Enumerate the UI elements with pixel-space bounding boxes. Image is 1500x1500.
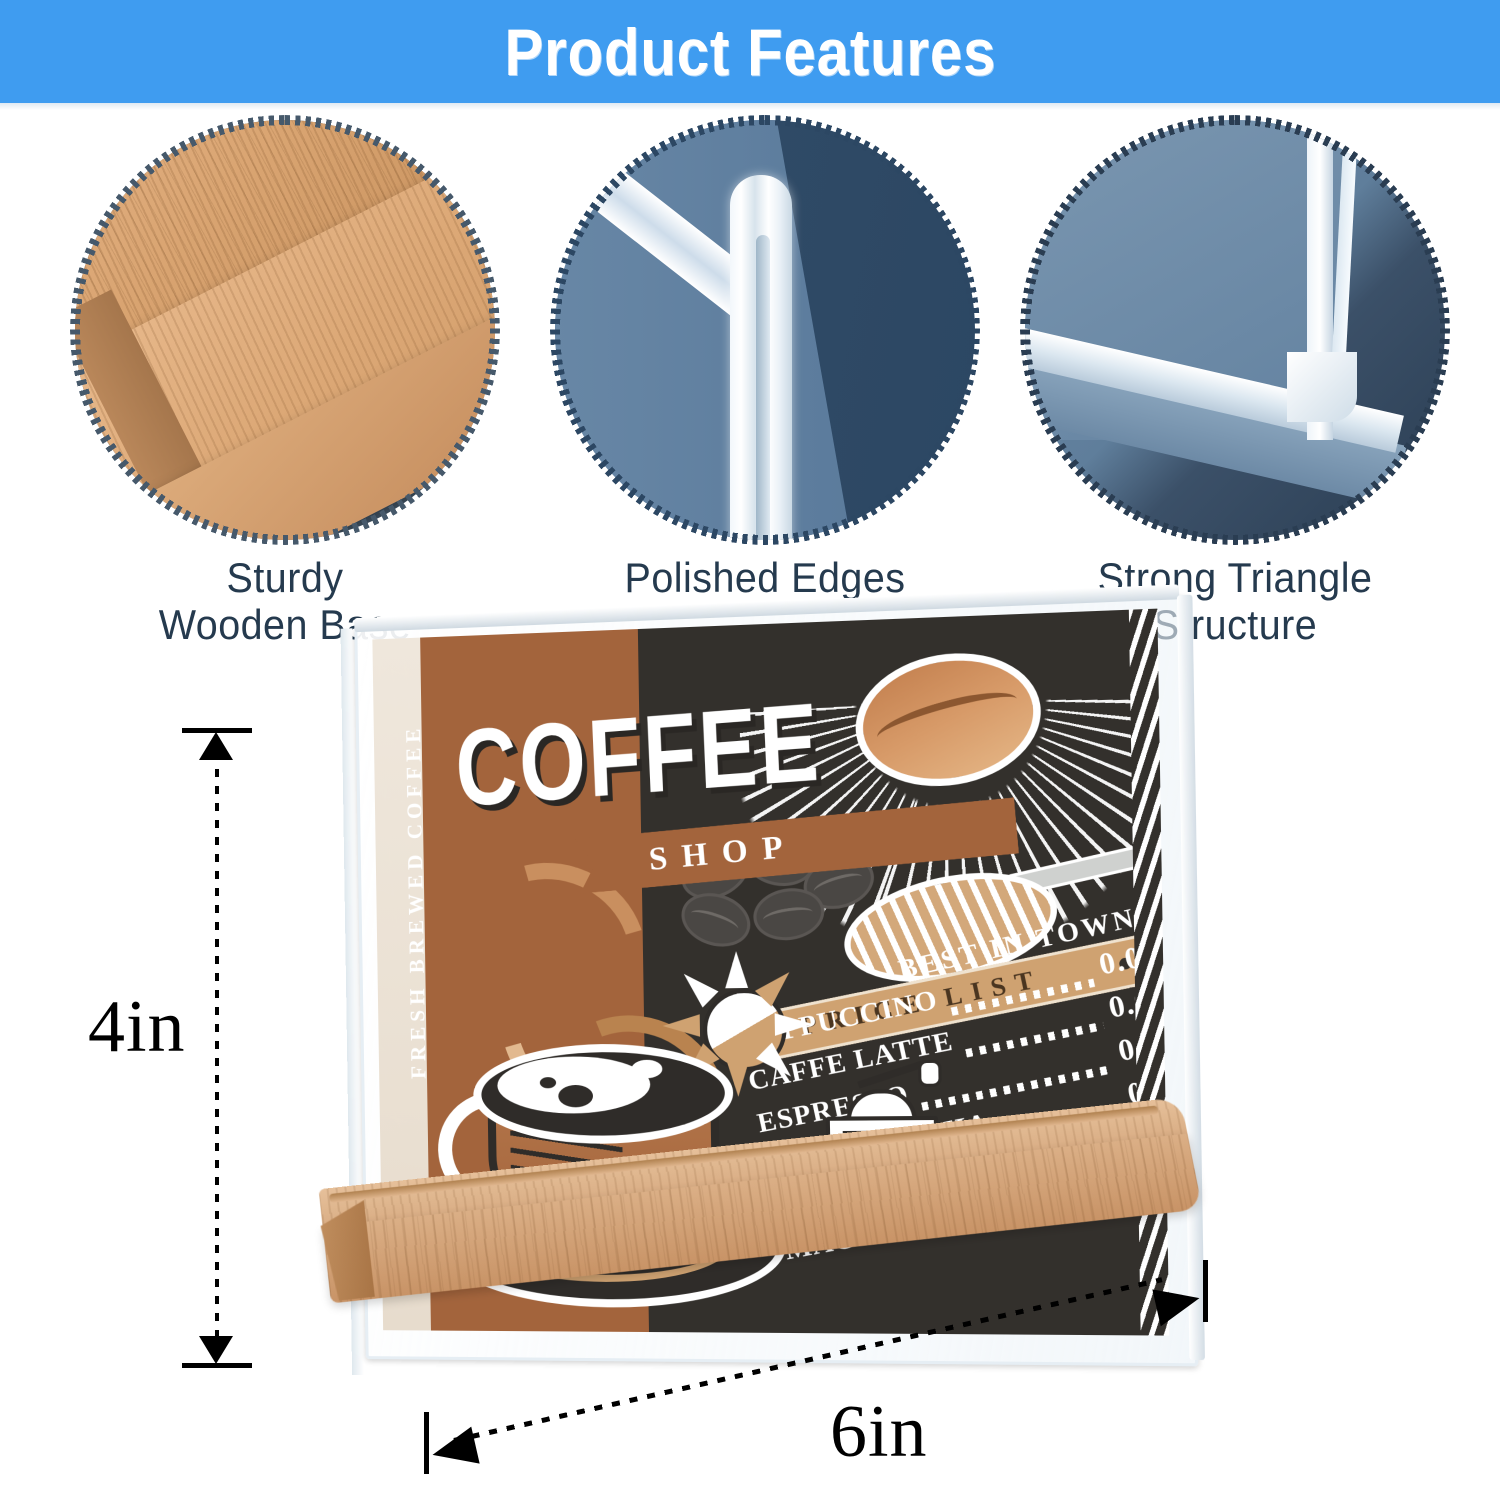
feature-item-sturdy-wooden-base: Sturdy Wooden Base <box>65 120 505 648</box>
feature-list: Sturdy Wooden Base Polished Edges <box>0 120 1500 650</box>
scalloped-ring-icon <box>70 115 500 545</box>
dimension-height-label: 4in <box>88 985 186 1070</box>
dimension-tick-right <box>1203 1260 1208 1322</box>
header-banner: Product Features <box>0 0 1500 103</box>
dimension-width <box>420 1288 1210 1478</box>
poster-brand-subtitle: SHOP <box>647 826 798 878</box>
arrow-right-icon <box>1152 1280 1203 1327</box>
dimension-height <box>215 728 217 1368</box>
sun-ray-icon <box>725 951 748 988</box>
feature-image-polished-edges <box>555 120 975 540</box>
arrow-left-icon <box>428 1427 479 1474</box>
grinder-crank-knob <box>918 1060 942 1087</box>
sun-ray-icon <box>775 1013 813 1036</box>
dimension-tick-left <box>424 1412 429 1474</box>
product-infographic: Product Features Sturdy Wooden Base <box>0 0 1500 1500</box>
arrow-down-icon <box>199 1336 233 1364</box>
feature-image-triangle-structure <box>1025 120 1445 540</box>
dimension-dotted-line <box>453 1277 1162 1443</box>
page-title: Product Features <box>504 19 996 85</box>
header-divider <box>0 103 1500 110</box>
scalloped-ring-icon <box>1020 115 1450 545</box>
dimension-dotted-line <box>215 752 219 1344</box>
dimension-width-label: 6in <box>830 1390 928 1475</box>
feature-item-triangle-structure: Strong Triangle Structure <box>1015 120 1455 648</box>
dimension-cap-bottom <box>182 1363 252 1368</box>
scalloped-ring-icon <box>550 115 980 545</box>
foam-dot <box>540 1077 556 1088</box>
grinder-crank-arm <box>857 1060 926 1089</box>
feature-caption-line-1: Sturdy <box>78 554 492 601</box>
feature-image-wooden-base <box>75 120 495 540</box>
feature-item-polished-edges: Polished Edges <box>545 120 985 601</box>
feature-caption-line-1: Polished Edges <box>558 554 972 601</box>
feature-caption-polished-edges: Polished Edges <box>558 554 972 601</box>
poster-brand-title: COFFEE <box>453 686 823 823</box>
